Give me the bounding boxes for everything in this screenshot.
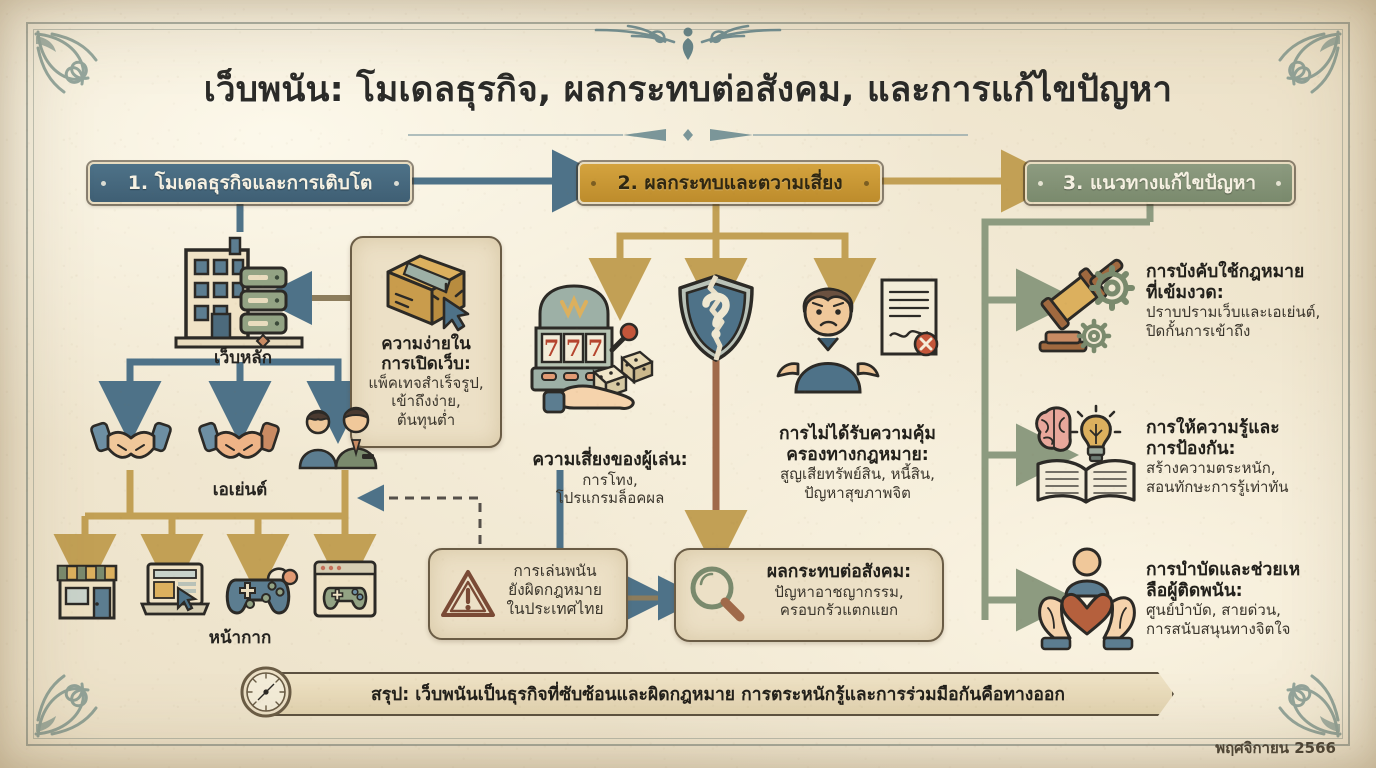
ease-card-body-1: แพ็คเทจสำเร็จรูป,	[352, 374, 500, 392]
page-title: เว็บพนัน: โมเดลธุรกิจ, ผลกระทบต่อสังคม, …	[0, 62, 1376, 117]
magnifying-glass-icon	[686, 564, 748, 626]
solution-2-body-1: สร้างความตระหนัก,	[1146, 459, 1368, 477]
gavel-gears-icon	[1034, 262, 1140, 362]
top-flourish-icon	[588, 12, 788, 64]
section-banner-1-label: 1. โมเดลธุรกิจและการเติบโต	[128, 168, 373, 198]
solution-1-text: การบังคับใช้กฎหมาย ที่เข้มงวด: ปราบปรามเ…	[1146, 262, 1368, 340]
solution-3-heading-2: ลือผู้ติดพนัน:	[1146, 581, 1374, 602]
storefront-icon	[56, 560, 118, 622]
masks-label: หน้ากาก	[150, 624, 330, 651]
caring-hands-heart-icon	[1032, 546, 1142, 652]
compass-icon	[240, 666, 292, 718]
section-banner-2-label: 2. ผลกระทบและตวามเสี่ยง	[617, 168, 842, 198]
illegal-warning-line-2: ยังผิดกฎหมาย	[492, 581, 618, 600]
package-box-cursor-icon	[374, 246, 478, 330]
agent-people-icon	[292, 406, 384, 470]
player-risk-heading: ความเสี่ยงของผู้เล่น:	[500, 450, 720, 471]
warning-triangle-icon	[440, 568, 496, 620]
illegal-warning-card[interactable]: การเล่นพนัน ยังผิดกฎหมาย ในประเทศไทย	[428, 548, 628, 640]
section-banner-3[interactable]: 3. แนวทางแก้ไขปัญหา	[1025, 162, 1294, 204]
no-legal-protection-heading-2: ครองทางกฎหมาย:	[740, 445, 975, 466]
summary-text: สรุป: เว็บพนันเป็นธุรกิจที่ซับซ้อนและผิด…	[371, 680, 1065, 708]
social-impact-card[interactable]: ผลกระทบต่อสังคม: ปัญหาอาชญากรรม, ครอบกรั…	[674, 548, 944, 642]
summary-banner[interactable]: สรุป: เว็บพนันเป็นธุรกิจที่ซับซ้อนและผิด…	[262, 672, 1174, 716]
date-stamp: พฤศจิกายน 2566	[1215, 736, 1336, 760]
social-impact-heading: ผลกระทบต่อสังคม:	[744, 562, 934, 583]
svg-text:7: 7	[566, 336, 581, 362]
social-impact-body-1: ปัญหาอาชญากรรม,	[744, 583, 934, 601]
handshake-icon	[200, 414, 278, 470]
solution-1-heading-2: ที่เข้มงวด:	[1146, 283, 1368, 304]
player-risk-body-2: โปรแกรมล็อคผล	[500, 489, 720, 507]
solution-3-heading-1: การบำบัดและช่วยเห	[1146, 560, 1374, 581]
gamepad-icon	[224, 558, 298, 622]
no-legal-protection-text: การไม่ได้รับความคุ้ม ครองทางกฎหมาย: สูญเ…	[740, 424, 975, 502]
section-banner-2[interactable]: 2. ผลกระทบและตวามเสี่ยง	[578, 162, 882, 204]
player-risk-body-1: การโทง,	[500, 471, 720, 489]
solution-3-body-2: การสนับสนุนทางจิตใจ	[1146, 620, 1374, 638]
main-website-label: เว็บหลัก	[168, 344, 318, 371]
no-legal-protection-body-2: ปัญหาสุขภาพจิต	[740, 484, 975, 502]
title-divider	[408, 126, 968, 144]
brain-bulb-book-icon	[1032, 402, 1142, 506]
slot-machine-dice-hand-icon: 777	[522, 280, 672, 420]
social-impact-body-2: ครอบกรัวแตกแยก	[744, 601, 934, 619]
main-website-building-icon	[168, 238, 318, 356]
player-risk-text: ความเสี่ยงของผู้เล่น: การโทง, โปรแกรมล็อ…	[500, 450, 720, 507]
svg-text:7: 7	[588, 336, 603, 362]
laptop-website-icon	[140, 558, 210, 622]
confused-person-icon	[776, 276, 880, 392]
solution-1-heading-1: การบังคับใช้กฎหมาย	[1146, 262, 1368, 283]
ornament-corner-icon	[30, 650, 122, 742]
document-rejected-icon	[876, 276, 942, 360]
illegal-warning-line-3: ในประเทศไทย	[492, 600, 618, 619]
solution-2-body-2: สอนทักษะการรู้เท่าทัน	[1146, 478, 1368, 496]
section-banner-3-label: 3. แนวทางแก้ไขปัญหา	[1063, 168, 1256, 198]
agents-label: เอเย่นต์	[150, 476, 330, 503]
solution-1-body-1: ปราบปรามเว็บและเอเย่นต์,	[1146, 303, 1368, 321]
solution-1-body-2: ปิดกั้นการเข้าถึง	[1146, 322, 1368, 340]
solution-2-text: การให้ความรู้และ การป้องกัน: สร้างความตร…	[1146, 418, 1368, 496]
solution-3-body-1: ศูนย์บำบัด, สายด่วน,	[1146, 601, 1374, 619]
ornament-corner-icon	[1254, 650, 1346, 742]
no-legal-protection-heading-1: การไม่ได้รับความคุ้ม	[740, 424, 975, 445]
browser-game-window-icon	[312, 558, 378, 620]
no-legal-protection-body-1: สูญเสียทรัพย์สิน, หนี้สิน,	[740, 465, 975, 483]
solution-2-heading-1: การให้ความรู้และ	[1146, 418, 1368, 439]
svg-text:7: 7	[544, 336, 559, 362]
solution-2-heading-2: การป้องกัน:	[1146, 439, 1368, 460]
infographic-canvas: เว็บพนัน: โมเดลธุรกิจ, ผลกระทบต่อสังคม, …	[0, 0, 1376, 768]
ease-card-heading-2: การเปิดเว็บ:	[352, 354, 500, 374]
solution-3-text: การบำบัดและช่วยเห ลือผู้ติดพนัน: ศูนย์บำ…	[1146, 560, 1374, 638]
broken-shield-question-icon	[672, 272, 760, 364]
section-banner-1[interactable]: 1. โมเดลธุรกิจและการเติบโต	[88, 162, 412, 204]
ease-card-heading-1: ความง่ายใน	[352, 334, 500, 354]
handshake-icon	[92, 414, 170, 470]
illegal-warning-line-1: การเล่นพนัน	[492, 562, 618, 581]
